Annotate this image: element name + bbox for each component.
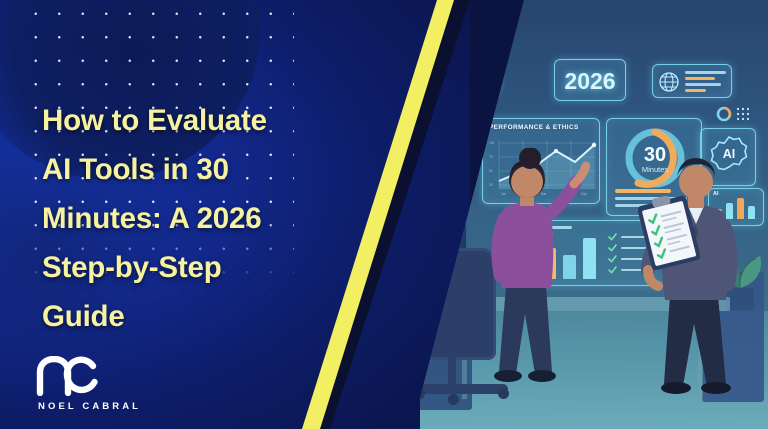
logo-wordmark: NOEL CABRAL: [38, 401, 141, 412]
title-line-4: Step-by-Step: [42, 243, 362, 292]
year-badge: 2026: [554, 59, 626, 101]
globe-icon: [658, 71, 680, 93]
illustration-panel: 2026: [420, 0, 768, 429]
donut-stat-icon: [716, 106, 750, 122]
brand-logo: NOEL CABRAL: [36, 356, 141, 412]
title-line-5: Guide: [42, 292, 362, 341]
title-line-3: Minutes: A 2026: [42, 194, 362, 243]
year-badge-label: 2026: [555, 60, 625, 102]
social-card: How to Evaluate AI Tools in 30 Minutes: …: [0, 0, 768, 429]
page-title: How to Evaluate AI Tools in 30 Minutes: …: [42, 96, 362, 341]
nc-monogram-icon: [36, 356, 98, 396]
title-line-2: AI Tools in 30: [42, 145, 362, 194]
clipboard-checklist-icon: [638, 196, 700, 270]
person-presenter: [472, 148, 590, 410]
title-line-1: How to Evaluate: [42, 96, 362, 145]
chart-title: PERFORMANCE & ETHICS: [489, 124, 599, 131]
svg-text:100: 100: [489, 141, 495, 145]
person-reviewer: [632, 150, 762, 412]
globe-info-panel: [652, 64, 732, 98]
